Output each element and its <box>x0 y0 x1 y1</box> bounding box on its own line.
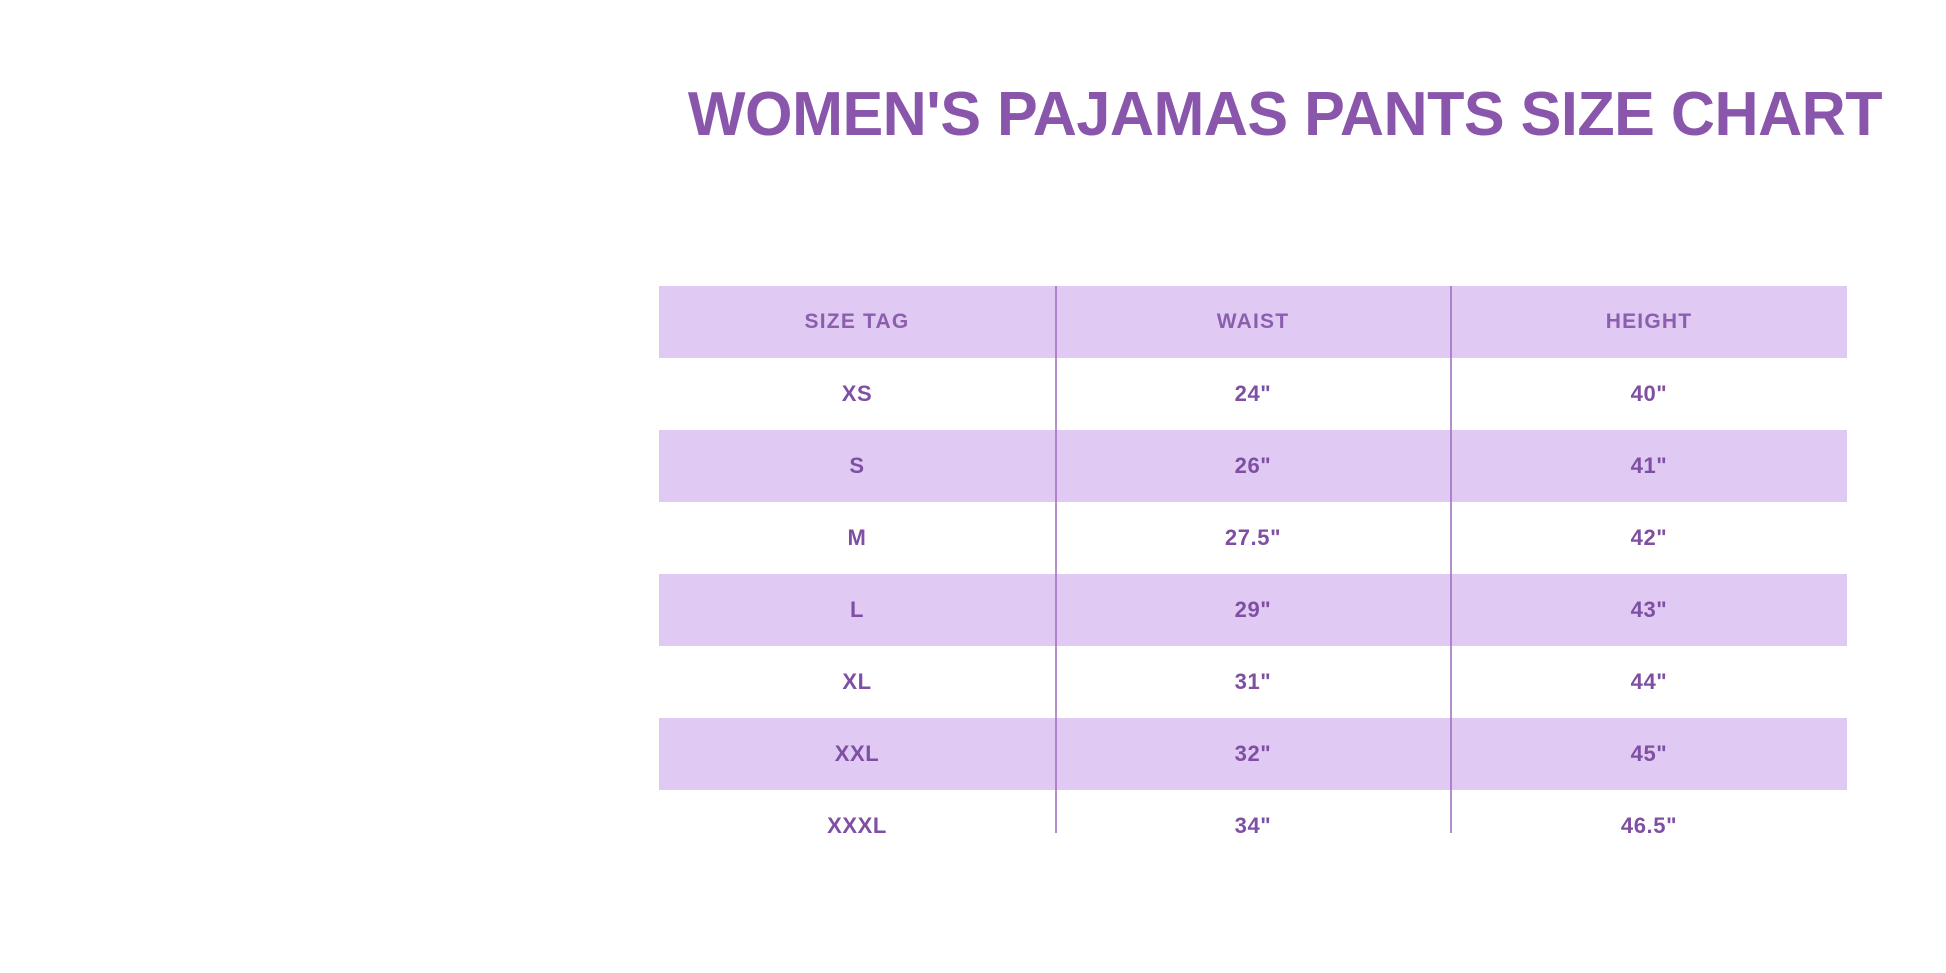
table-header: SIZE TAG WAIST HEIGHT <box>659 286 1847 358</box>
table-row: M 27.5" 42" <box>659 502 1847 574</box>
table-row: XL 31" 44" <box>659 646 1847 718</box>
cell-waist: 27.5" <box>1055 502 1451 574</box>
cell-height: 42" <box>1451 502 1847 574</box>
cell-size-tag: XXL <box>659 718 1055 790</box>
cell-waist: 34" <box>1055 790 1451 862</box>
table-body: XS 24" 40" S 26" 41" M 27.5" 42" L 29" 4… <box>659 358 1847 862</box>
cell-size-tag: M <box>659 502 1055 574</box>
column-divider-1 <box>1055 286 1057 833</box>
column-header-height: HEIGHT <box>1451 286 1847 358</box>
cell-waist: 32" <box>1055 718 1451 790</box>
column-header-waist: WAIST <box>1055 286 1451 358</box>
table-row: XXL 32" 45" <box>659 718 1847 790</box>
page-title: WOMEN'S PAJAMAS PANTS SIZE CHART <box>660 82 1911 147</box>
size-chart-canvas: WOMEN'S PAJAMAS PANTS SIZE CHART SIZE TA… <box>0 0 1946 973</box>
cell-waist: 26" <box>1055 430 1451 502</box>
cell-size-tag: XS <box>659 358 1055 430</box>
cell-height: 40" <box>1451 358 1847 430</box>
table-row: XS 24" 40" <box>659 358 1847 430</box>
cell-waist: 24" <box>1055 358 1451 430</box>
cell-height: 44" <box>1451 646 1847 718</box>
cell-size-tag: L <box>659 574 1055 646</box>
cell-height: 41" <box>1451 430 1847 502</box>
table-row: L 29" 43" <box>659 574 1847 646</box>
table-row: XXXL 34" 46.5" <box>659 790 1847 862</box>
column-header-size-tag: SIZE TAG <box>659 286 1055 358</box>
cell-waist: 29" <box>1055 574 1451 646</box>
table-row: S 26" 41" <box>659 430 1847 502</box>
cell-height: 43" <box>1451 574 1847 646</box>
cell-height: 45" <box>1451 718 1847 790</box>
cell-waist: 31" <box>1055 646 1451 718</box>
cell-size-tag: S <box>659 430 1055 502</box>
cell-height: 46.5" <box>1451 790 1847 862</box>
size-chart-table: SIZE TAG WAIST HEIGHT XS 24" 40" S 26" 4… <box>659 286 1847 862</box>
table-header-row: SIZE TAG WAIST HEIGHT <box>659 286 1847 358</box>
column-divider-2 <box>1450 286 1452 833</box>
cell-size-tag: XXXL <box>659 790 1055 862</box>
cell-size-tag: XL <box>659 646 1055 718</box>
